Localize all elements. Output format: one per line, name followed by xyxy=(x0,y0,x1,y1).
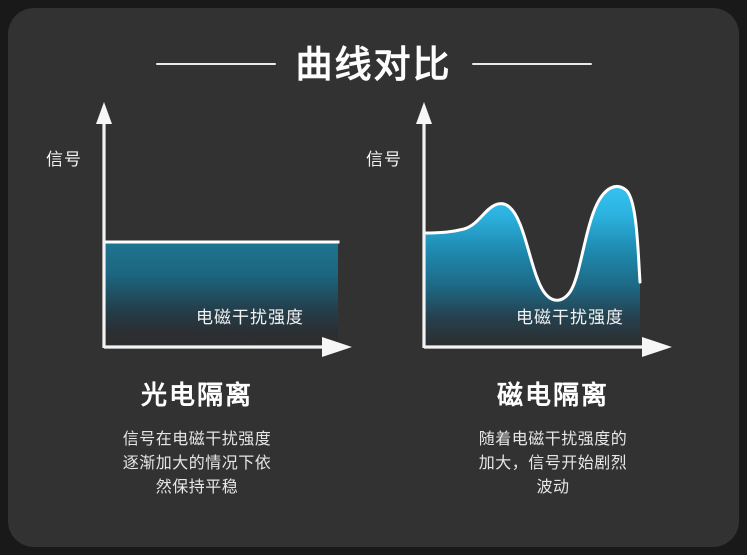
page-title-row: 曲线对比 xyxy=(0,34,747,94)
page-title: 曲线对比 xyxy=(296,46,452,83)
x-axis-arrow-icon xyxy=(642,337,672,357)
caption-right-title: 磁电隔离 xyxy=(388,382,718,411)
caption-right-line-2: 加大，信号开始剧烈 xyxy=(388,451,718,475)
area-fill-flat xyxy=(105,243,338,348)
x-axis-label-right: 电磁干扰强度 xyxy=(516,303,624,328)
caption-left-line-1: 信号在电磁干扰强度 xyxy=(32,427,362,451)
y-axis-label-left: 信号 xyxy=(46,145,82,170)
caption-left-description: 信号在电磁干扰强度 逐渐加大的情况下依 然保持平稳 xyxy=(32,427,362,499)
chart-optical-isolation: 信号 电磁干扰强度 xyxy=(12,100,372,370)
slide-canvas: 曲线对比 信号 xyxy=(0,0,747,555)
y-axis-label-right: 信号 xyxy=(366,145,402,170)
chart-right-svg xyxy=(332,100,692,370)
chart-magnetic-isolation: 信号 电磁干扰强度 xyxy=(332,100,692,370)
x-axis-label-left: 电磁干扰强度 xyxy=(196,303,304,328)
caption-right-line-3: 波动 xyxy=(388,475,718,499)
caption-right-description: 随着电磁干扰强度的 加大，信号开始剧烈 波动 xyxy=(388,427,718,499)
caption-left-line-2: 逐渐加大的情况下依 xyxy=(32,451,362,475)
title-rule-right xyxy=(472,63,592,65)
title-rule-left xyxy=(156,63,276,65)
caption-left-title: 光电隔离 xyxy=(32,382,362,411)
y-axis-arrow-icon xyxy=(96,102,112,124)
caption-optical-isolation: 光电隔离 信号在电磁干扰强度 逐渐加大的情况下依 然保持平稳 xyxy=(32,382,362,499)
caption-left-line-3: 然保持平稳 xyxy=(32,475,362,499)
y-axis-arrow-icon xyxy=(416,102,432,124)
chart-left-svg xyxy=(12,100,372,370)
caption-right-line-1: 随着电磁干扰强度的 xyxy=(388,427,718,451)
caption-magnetic-isolation: 磁电隔离 随着电磁干扰强度的 加大，信号开始剧烈 波动 xyxy=(388,382,718,499)
